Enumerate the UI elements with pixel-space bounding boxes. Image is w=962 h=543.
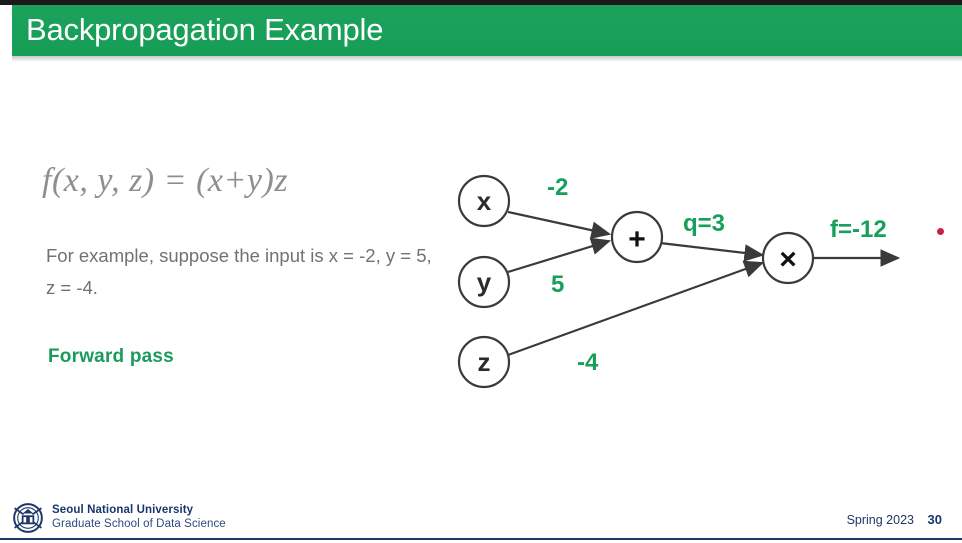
example-description: For example, suppose the input is x = -2… <box>46 240 436 304</box>
footer-school-name: Graduate School of Data Science <box>52 518 226 530</box>
snu-crest-logo <box>10 501 46 535</box>
node-y-label: y <box>477 267 492 297</box>
node-z: z <box>459 337 509 387</box>
footer-divider <box>0 538 962 540</box>
edge-x-to-plus <box>508 212 609 234</box>
forward-pass-label: Forward pass <box>48 346 174 368</box>
edge-label-x: -2 <box>547 174 568 201</box>
edge-label-z: -4 <box>577 349 599 376</box>
node-plus: + <box>612 212 662 262</box>
footer-term: Spring 2023 <box>847 513 914 527</box>
function-formula: f(x, y, z) = (x+y)z <box>42 162 288 200</box>
footer-university-name: Seoul National University <box>52 504 193 516</box>
page-title: Backpropagation Example <box>26 11 383 49</box>
node-x-label: x <box>477 186 492 216</box>
node-times: × <box>763 233 813 283</box>
edge-label-f: f=-12 <box>830 216 887 243</box>
node-x: x <box>459 176 509 226</box>
node-z-label: z <box>478 347 491 377</box>
edge-plus-to-times <box>660 243 762 255</box>
computational-graph: x y z + × -2 5 -4 q=3 f=-12 <box>440 155 960 405</box>
edge-label-q: q=3 <box>683 210 725 237</box>
node-plus-label: + <box>628 223 646 256</box>
edge-label-y: 5 <box>551 271 564 298</box>
header-drop-shadow <box>12 56 962 62</box>
node-y: y <box>459 257 509 307</box>
footer-page-number: 30 <box>928 512 942 527</box>
slide-canvas: Backpropagation Example f(x, y, z) = (x+… <box>0 0 962 543</box>
red-marker-dot <box>937 228 944 235</box>
edge-z-to-times <box>508 263 762 355</box>
edge-y-to-plus <box>508 241 609 272</box>
node-times-label: × <box>779 243 797 276</box>
